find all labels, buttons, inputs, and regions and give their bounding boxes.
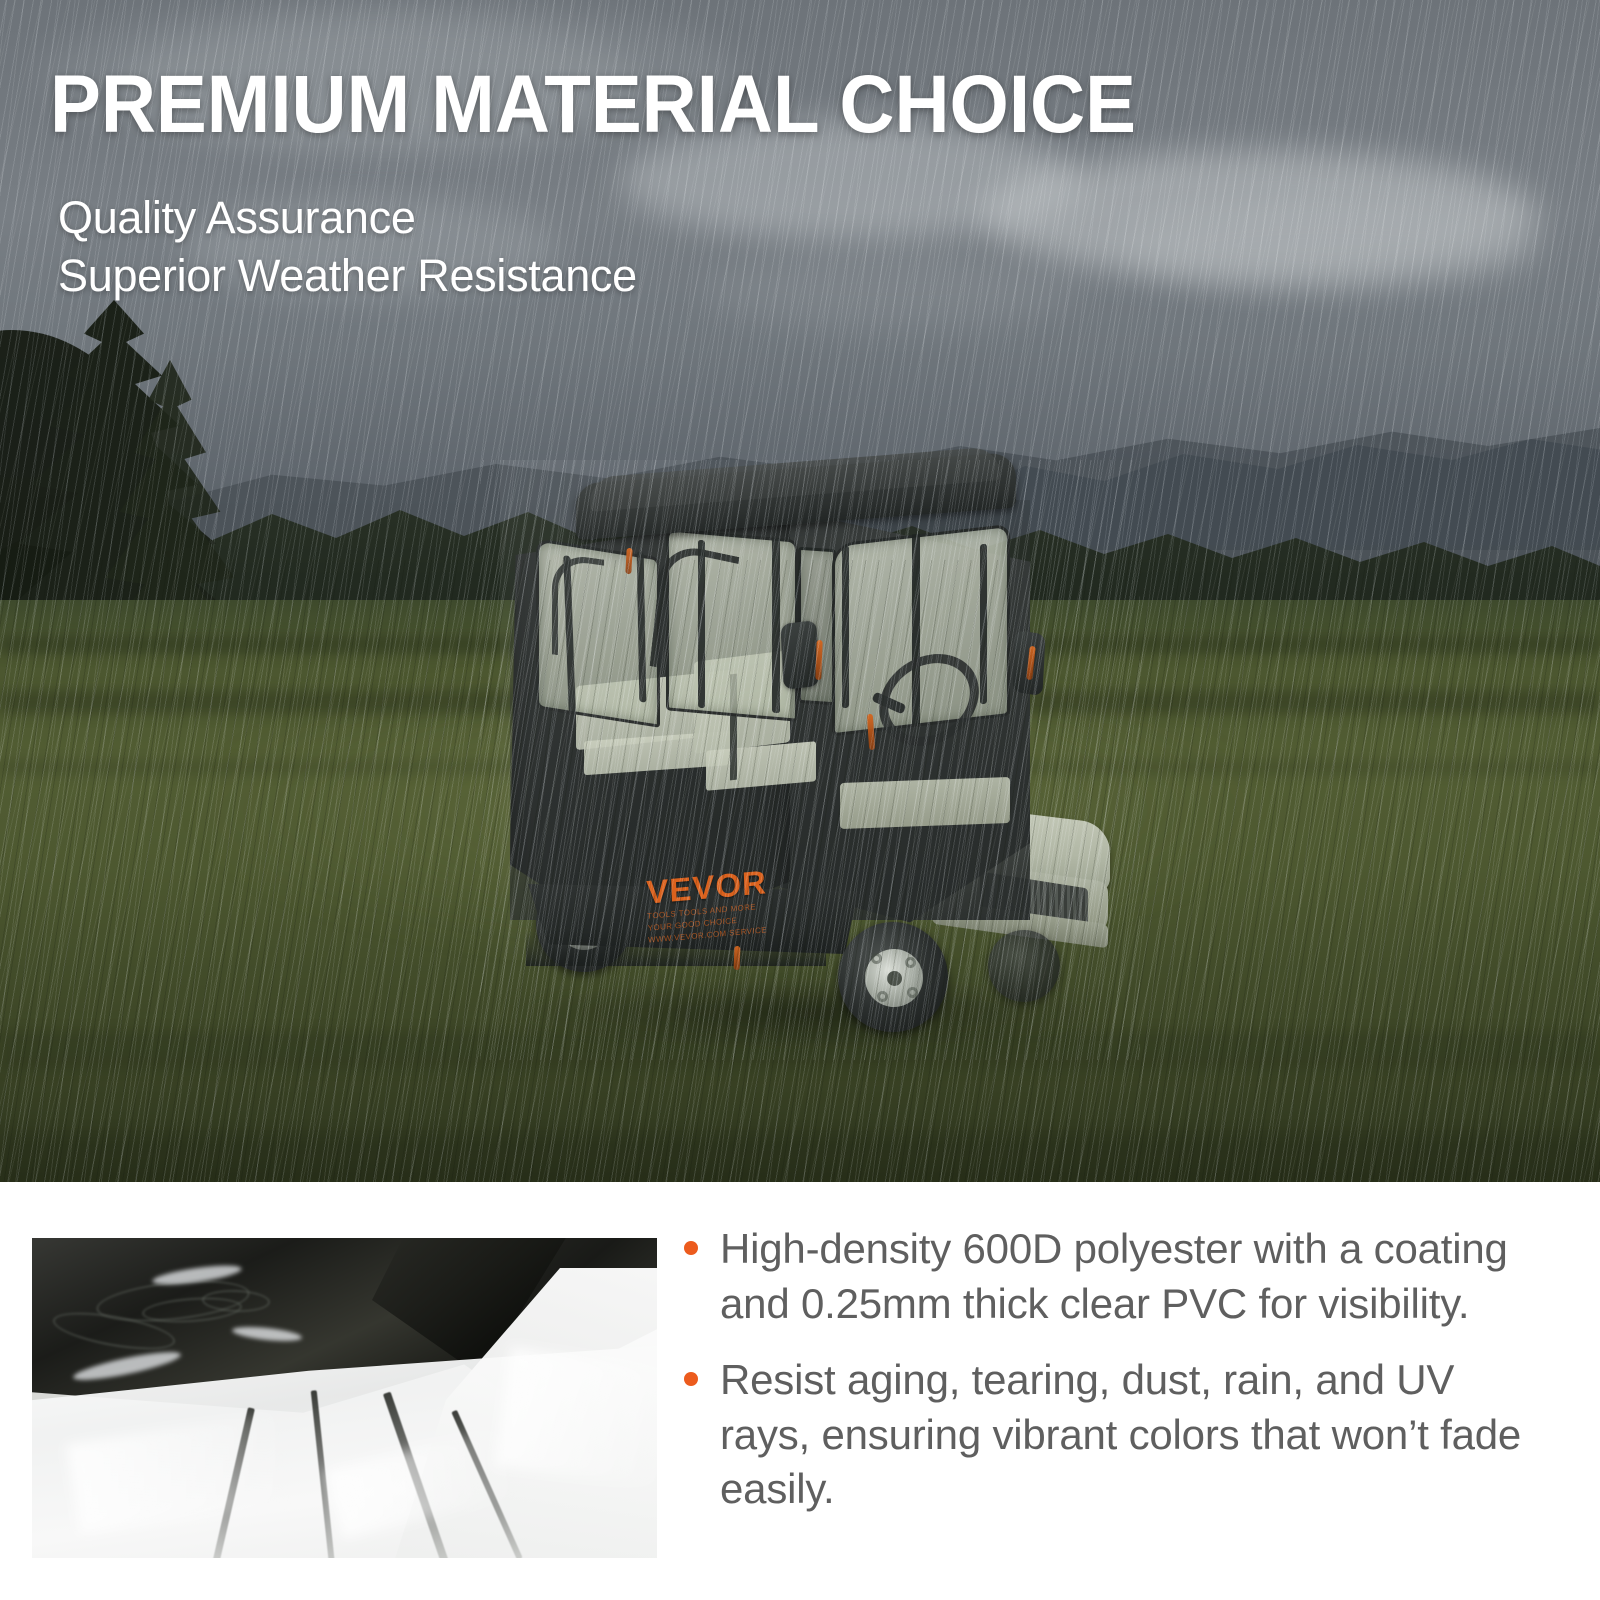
cloud [700, 250, 1080, 330]
feature-bullet-text: Resist aging, tearing, dust, rain, and U… [720, 1353, 1530, 1517]
material-detail-photo [32, 1238, 657, 1558]
list-item: Resist aging, tearing, dust, rain, and U… [684, 1353, 1564, 1517]
feature-bullet-list: High-density 600D polyester with a coati… [684, 1222, 1564, 1539]
zipper-pull [734, 946, 741, 970]
frame-strut [980, 544, 987, 705]
mow-stripe [0, 1130, 1600, 1182]
bullet-dot-icon [684, 1372, 698, 1386]
frame-strut [772, 538, 780, 714]
wheel-center-cap [887, 971, 902, 986]
grab-bar [552, 552, 604, 661]
list-item: High-density 600D polyester with a coati… [684, 1222, 1564, 1331]
bullet-dot-icon [684, 1241, 698, 1255]
golf-cart-with-enclosure: VEVOR TOOLS TOOLS AND MORE YOUR GOOD CHO… [480, 460, 1140, 1060]
wheel-lug [880, 994, 885, 999]
hero-subline-1: Quality Assurance [58, 194, 416, 241]
hero-subline-2: Superior Weather Resistance [58, 252, 637, 299]
side-mirror [780, 620, 819, 690]
cart-dashboard [840, 777, 1010, 829]
product-feature-page: VEVOR TOOLS TOOLS AND MORE YOUR GOOD CHO… [0, 0, 1600, 1600]
hero-image: VEVOR TOOLS TOOLS AND MORE YOUR GOOD CHO… [0, 0, 1600, 1182]
hero-headline: PREMIUM MATERIAL CHOICE [50, 64, 1136, 146]
wheel-lug [910, 990, 915, 995]
features-section: High-density 600D polyester with a coati… [0, 1182, 1600, 1600]
wheel-lug [874, 956, 879, 961]
wheel-lug [908, 960, 913, 965]
frame-strut [842, 546, 849, 709]
feature-bullet-text: High-density 600D polyester with a coati… [720, 1222, 1530, 1331]
cloud [1120, 200, 1540, 290]
vevor-brand-mark: VEVOR TOOLS TOOLS AND MORE YOUR GOOD CHO… [646, 864, 780, 946]
cart-wheel [988, 930, 1060, 1002]
